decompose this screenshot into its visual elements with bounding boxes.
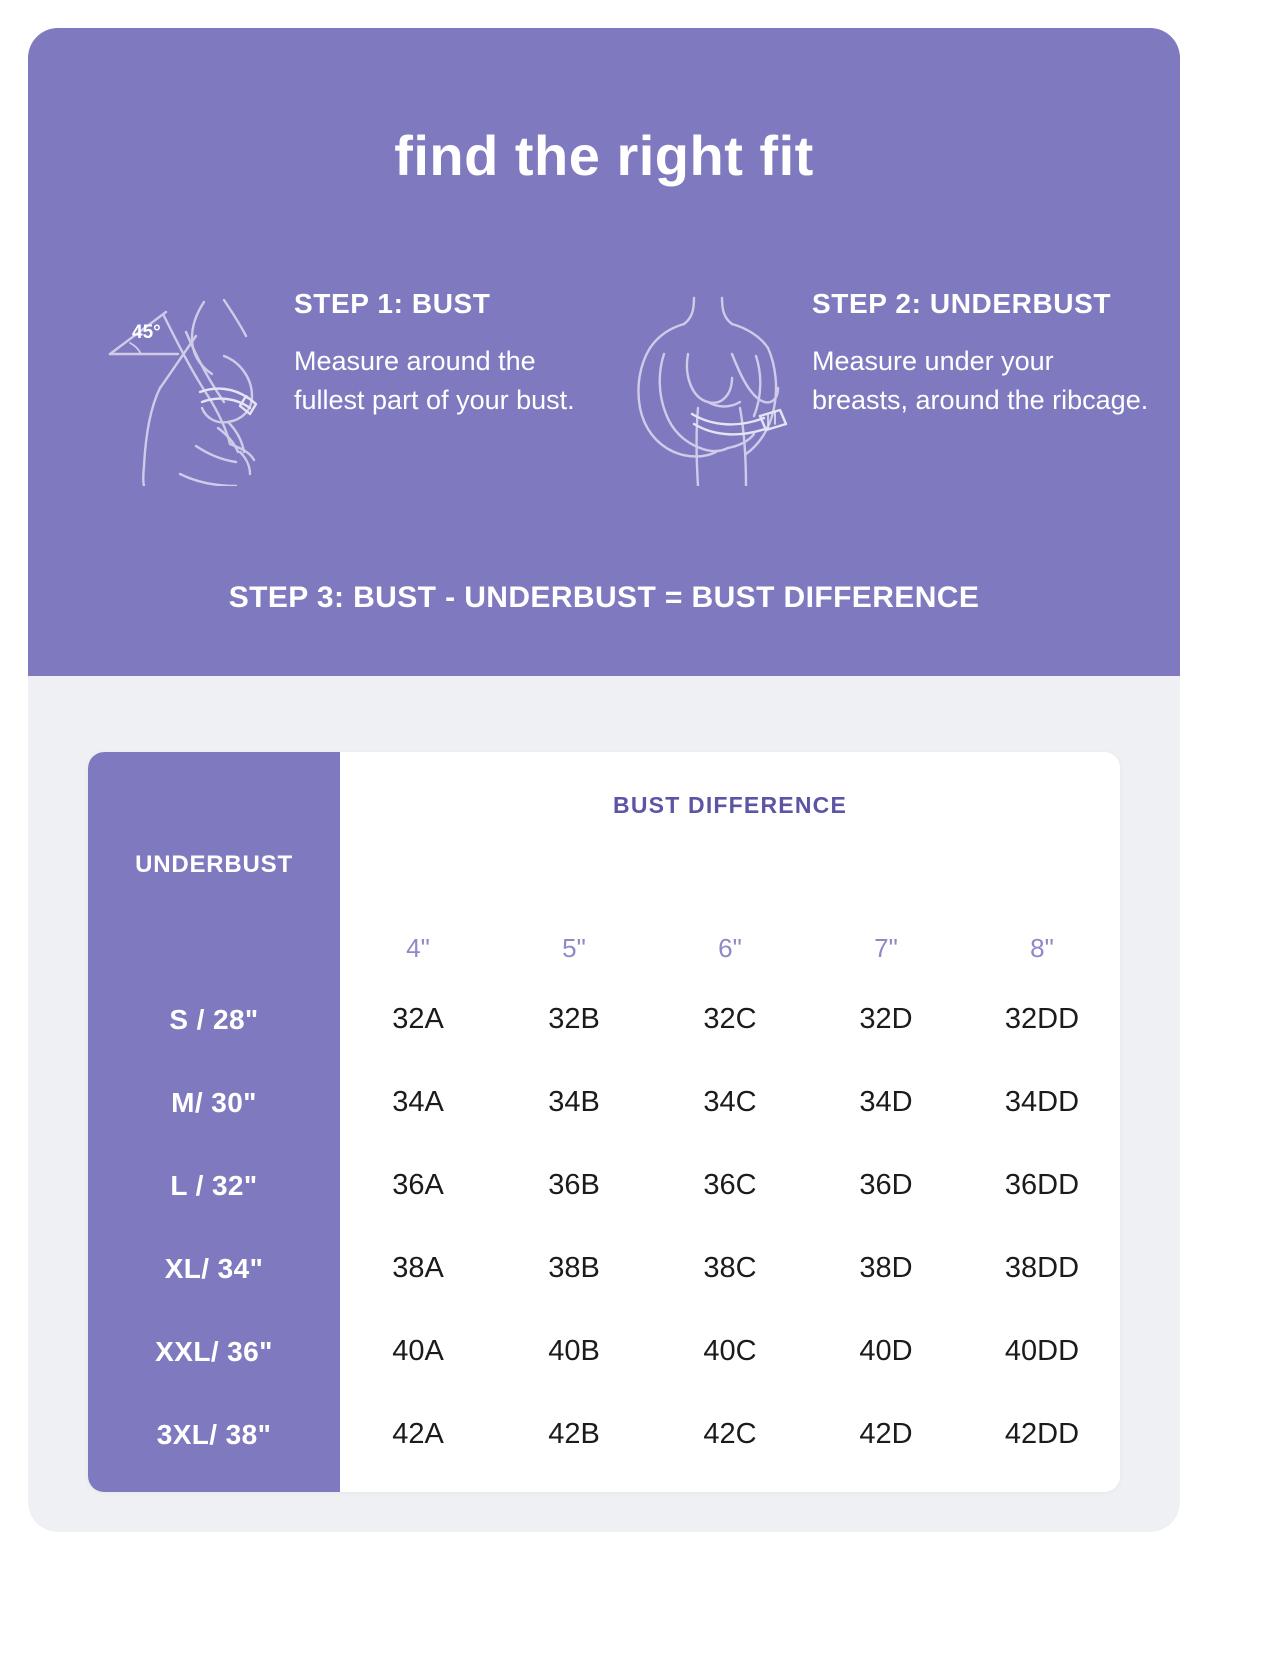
row-label-m: M/ 30" [88,1061,340,1144]
step-1-text: STEP 1: BUST Measure around the fullest … [294,278,594,420]
cell-l-4: 36A [340,1144,496,1227]
cell-m-4: 34A [340,1061,496,1144]
cell-xxl-4: 40A [340,1310,496,1393]
column-header-8in: 8" [964,851,1120,978]
cell-4xl-6: 44C [652,1476,808,1492]
step-2-body: Measure under your breasts, around the r… [812,342,1157,420]
hero-panel: find the right fit 45° [28,28,1180,676]
size-guide-page: find the right fit 45° [0,0,1280,1660]
cell-xxl-6: 40C [652,1310,808,1393]
side-view-torso-measuring-bust-icon: 45° [100,296,280,486]
column-header-6in: 6" [652,851,808,978]
cell-xxl-8: 40DD [964,1310,1120,1393]
table-row: 4XL/ 40" 44A 44B 44C 44D 44DD [88,1476,1120,1492]
row-label-3xl: 3XL/ 38" [88,1393,340,1476]
table-row: M/ 30" 34A 34B 34C 34D 34DD [88,1061,1120,1144]
table-header-group-row: UNDERBUST BUST DIFFERENCE [88,752,1120,851]
cell-s-6: 32C [652,978,808,1061]
step-2-block: STEP 2: UNDERBUST Measure under your bre… [604,278,1164,486]
step-2-text: STEP 2: UNDERBUST Measure under your bre… [812,278,1157,420]
svg-text:45°: 45° [132,322,161,343]
table-body: S / 28" 32A 32B 32C 32D 32DD M/ 30" 34A … [88,978,1120,1492]
cell-3xl-8: 42DD [964,1393,1120,1476]
cell-xl-8: 38DD [964,1227,1120,1310]
table-row: XXL/ 36" 40A 40B 40C 40D 40DD [88,1310,1120,1393]
size-chart-table: UNDERBUST BUST DIFFERENCE 4" 5" 6" 7" 8"… [88,752,1120,1492]
cell-xxl-7: 40D [808,1310,964,1393]
cell-xl-4: 38A [340,1227,496,1310]
cell-l-5: 36B [496,1144,652,1227]
step-1-block: 45° [44,278,604,486]
row-label-xxl: XXL/ 36" [88,1310,340,1393]
step-3-formula: STEP 3: BUST - UNDERBUST = BUST DIFFEREN… [28,581,1180,615]
cell-3xl-7: 42D [808,1393,964,1476]
table-row: S / 28" 32A 32B 32C 32D 32DD [88,978,1120,1061]
cell-3xl-5: 42B [496,1393,652,1476]
underbust-column-header: UNDERBUST [88,752,340,978]
cell-4xl-4: 44A [340,1476,496,1492]
column-header-4in: 4" [340,851,496,978]
cell-l-7: 36D [808,1144,964,1227]
cell-xl-6: 38C [652,1227,808,1310]
cell-s-8: 32DD [964,978,1120,1061]
cell-m-6: 34C [652,1061,808,1144]
column-header-5in: 5" [496,851,652,978]
cell-4xl-7: 44D [808,1476,964,1492]
column-header-7in: 7" [808,851,964,978]
table-head: UNDERBUST BUST DIFFERENCE 4" 5" 6" 7" 8" [88,752,1120,978]
step-2-heading: STEP 2: UNDERBUST [812,288,1157,320]
table-row: XL/ 34" 38A 38B 38C 38D 38DD [88,1227,1120,1310]
cell-4xl-8: 44DD [964,1476,1120,1492]
front-view-torso-measuring-underbust-icon [618,296,798,486]
cell-3xl-6: 42C [652,1393,808,1476]
bust-difference-group-header: BUST DIFFERENCE [340,752,1120,851]
cell-m-5: 34B [496,1061,652,1144]
cell-m-8: 34DD [964,1061,1120,1144]
cell-3xl-4: 42A [340,1393,496,1476]
step-1-body: Measure around the fullest part of your … [294,342,594,420]
row-label-4xl: 4XL/ 40" [88,1476,340,1492]
row-label-l: L / 32" [88,1144,340,1227]
size-chart-card: UNDERBUST BUST DIFFERENCE 4" 5" 6" 7" 8"… [88,752,1120,1492]
cell-4xl-5: 44B [496,1476,652,1492]
cell-xl-5: 38B [496,1227,652,1310]
cell-xl-7: 38D [808,1227,964,1310]
cell-l-8: 36DD [964,1144,1120,1227]
table-row: 3XL/ 38" 42A 42B 42C 42D 42DD [88,1393,1120,1476]
cell-xxl-5: 40B [496,1310,652,1393]
row-label-s: S / 28" [88,978,340,1061]
step-1-heading: STEP 1: BUST [294,288,594,320]
page-title: find the right fit [28,128,1180,184]
cell-m-7: 34D [808,1061,964,1144]
table-row: L / 32" 36A 36B 36C 36D 36DD [88,1144,1120,1227]
cell-l-6: 36C [652,1144,808,1227]
cell-s-7: 32D [808,978,964,1061]
row-label-xl: XL/ 34" [88,1227,340,1310]
steps-row: 45° [28,278,1180,486]
cell-s-4: 32A [340,978,496,1061]
cell-s-5: 32B [496,978,652,1061]
